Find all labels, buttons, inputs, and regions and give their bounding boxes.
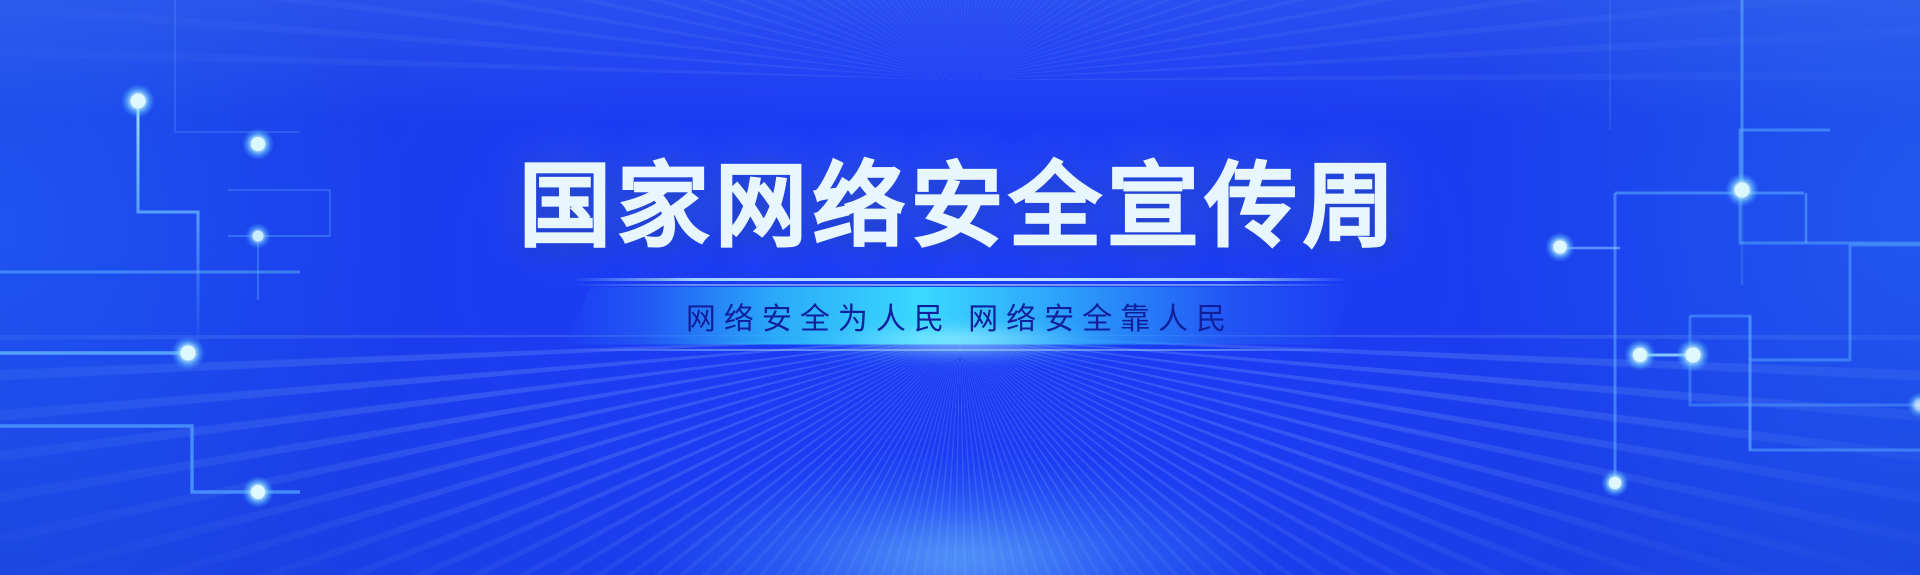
ribbon-highlight-top bbox=[571, 278, 1349, 281]
page-title: 国家网络安全宣传周 bbox=[519, 161, 1401, 253]
slogan-ribbon: 网络安全为人民 网络安全靠人民 bbox=[565, 287, 1355, 345]
banner-content: 国家网络安全宣传周 网络安全为人民 网络安全靠人民 bbox=[0, 0, 1920, 575]
ribbon-highlight-top-secondary bbox=[571, 284, 1349, 286]
cybersecurity-week-banner: 国家网络安全宣传周 网络安全为人民 网络安全靠人民 bbox=[0, 0, 1920, 575]
slogan-text: 网络安全为人民 网络安全靠人民 bbox=[686, 294, 1234, 338]
